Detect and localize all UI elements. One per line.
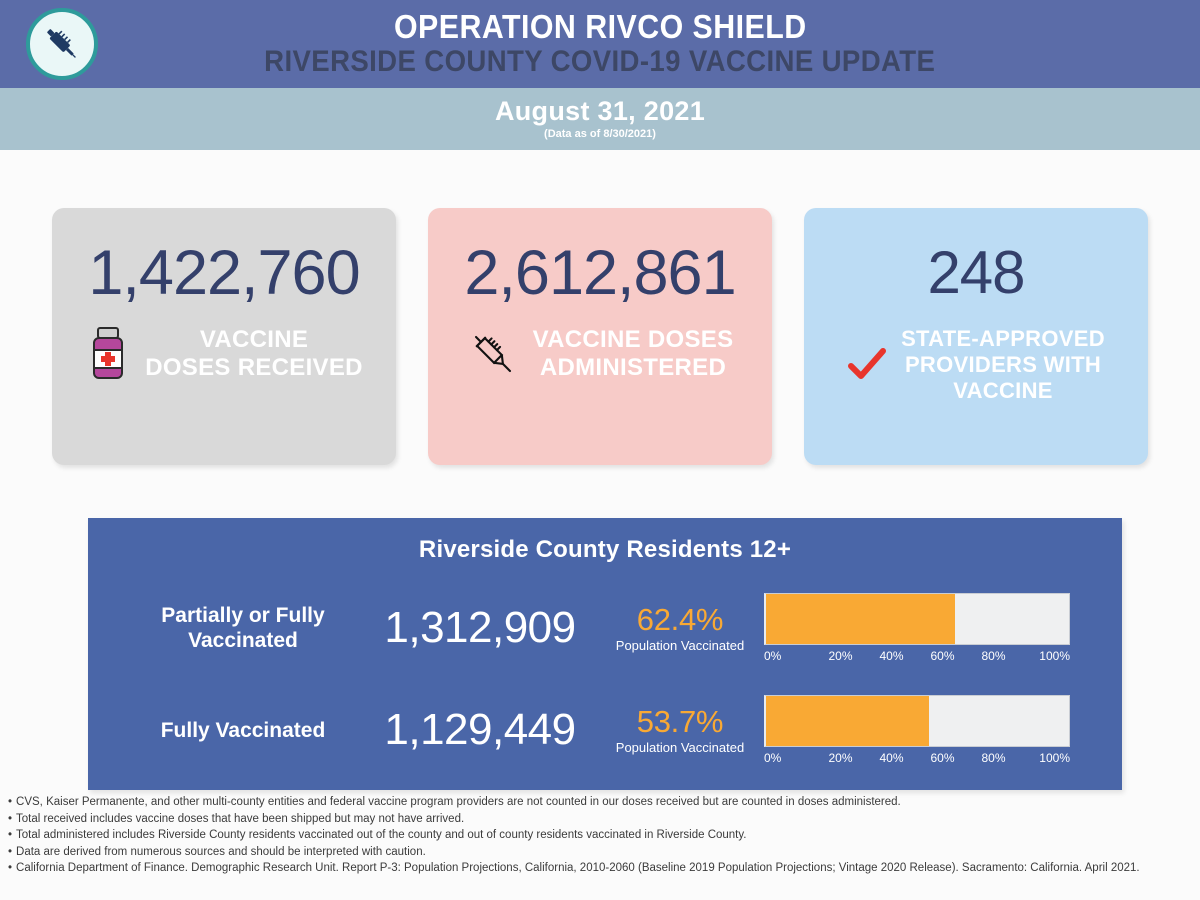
row-percent-fully: 53.7%	[604, 705, 756, 739]
row-label-partially-line2: Vaccinated	[130, 628, 356, 653]
panel-title: Riverside County Residents 12+	[88, 518, 1122, 564]
red-checkmark-icon	[847, 345, 887, 385]
axis-tick-4: 80%	[968, 751, 1019, 765]
footnote-text: Total received includes vaccine doses th…	[16, 811, 1192, 828]
axis-tick-1: 20%	[815, 751, 866, 765]
page-header: OPERATION RIVCO SHIELD RIVERSIDE COUNTY …	[0, 0, 1200, 88]
data-as-of-note: (Data as of 8/30/2021)	[544, 127, 656, 142]
syringe-icon	[467, 328, 519, 380]
page-title-secondary: RIVERSIDE COUNTY COVID-19 VACCINE UPDATE	[264, 45, 935, 79]
axis-tick-1: 20%	[815, 649, 866, 663]
footnote-bullet: •	[8, 827, 12, 844]
footnote-item: • Total administered includes Riverside …	[8, 827, 1192, 844]
axis-tick-3: 60%	[917, 751, 968, 765]
bar-track-partially	[764, 593, 1070, 645]
bar-fill-partially	[766, 594, 955, 644]
residents-panel: Riverside County Residents 12+ Partially…	[88, 518, 1122, 790]
footnote-item: • California Department of Finance. Demo…	[8, 860, 1192, 877]
date-band: August 31, 2021 (Data as of 8/30/2021)	[0, 88, 1200, 150]
axis-tick-3: 60%	[917, 649, 968, 663]
row-percent-block-partially: 62.4% Population Vaccinated	[604, 603, 756, 654]
doses-administered-label: VACCINE DOSES ADMINISTERED	[533, 326, 734, 382]
bar-chart-partially-or-fully: 0% 20% 40% 60% 80% 100%	[756, 593, 1086, 663]
row-label-fully: Fully Vaccinated	[130, 718, 356, 743]
footnote-bullet: •	[8, 811, 12, 828]
chart-row-partially-or-fully-vaccinated: Partially or Fully Vaccinated 1,312,909 …	[88, 584, 1122, 672]
vaccine-bottle-icon	[85, 326, 131, 382]
approved-providers-label-line2: PROVIDERS WITH	[901, 352, 1105, 378]
chart-row-fully-vaccinated: Fully Vaccinated 1,129,449 53.7% Populat…	[88, 686, 1122, 774]
row-percent-block-fully: 53.7% Population Vaccinated	[604, 705, 756, 756]
row-count-fully: 1,129,449	[356, 705, 604, 755]
stat-card-doses-received: 1,422,760 VACCINE DOSES RECEIVED	[52, 208, 396, 465]
approved-providers-label-line3: VACCINE	[901, 378, 1105, 404]
doses-received-value: 1,422,760	[88, 236, 359, 310]
footnote-item: • CVS, Kaiser Permanente, and other mult…	[8, 794, 1192, 811]
bar-track-fully	[764, 695, 1070, 747]
bar-axis-fully: 0% 20% 40% 60% 80% 100%	[764, 751, 1070, 765]
row-percent-caption-fully: Population Vaccinated	[604, 740, 756, 756]
axis-tick-0: 0%	[764, 649, 815, 663]
footnotes: • CVS, Kaiser Permanente, and other mult…	[8, 794, 1192, 877]
doses-administered-label-line2: ADMINISTERED	[533, 354, 734, 382]
row-count-partially-or-fully: 1,312,909	[356, 603, 604, 653]
axis-tick-2: 40%	[866, 649, 917, 663]
approved-providers-label-line1: STATE-APPROVED	[901, 326, 1105, 352]
approved-providers-value: 248	[927, 236, 1024, 310]
page-title-primary: OPERATION RIVCO SHIELD	[394, 9, 807, 45]
report-date: August 31, 2021	[495, 96, 705, 126]
doses-administered-value: 2,612,861	[464, 236, 735, 310]
approved-providers-label: STATE-APPROVED PROVIDERS WITH VACCINE	[901, 326, 1105, 404]
footnote-text: CVS, Kaiser Permanente, and other multi-…	[16, 794, 1192, 811]
row-percent-caption-partially: Population Vaccinated	[604, 638, 756, 654]
row-label-fully-line1: Fully Vaccinated	[130, 718, 356, 743]
footnote-bullet: •	[8, 860, 12, 877]
infographic-page: OPERATION RIVCO SHIELD RIVERSIDE COUNTY …	[0, 0, 1200, 900]
bar-axis-partially: 0% 20% 40% 60% 80% 100%	[764, 649, 1070, 663]
stat-card-approved-providers: 248 STATE-APPROVED PROVIDERS WITH VACCIN…	[804, 208, 1148, 465]
doses-administered-label-line1: VACCINE DOSES	[533, 326, 734, 354]
row-percent-partially: 62.4%	[604, 603, 756, 637]
axis-tick-5: 100%	[1019, 751, 1070, 765]
stat-card-group: 1,422,760 VACCINE DOSES RECEIVED	[0, 150, 1200, 465]
axis-tick-0: 0%	[764, 751, 815, 765]
syringe-circle-logo	[26, 8, 98, 80]
row-label-partially-or-fully: Partially or Fully Vaccinated	[130, 603, 356, 653]
axis-tick-4: 80%	[968, 649, 1019, 663]
axis-tick-5: 100%	[1019, 649, 1070, 663]
footnote-item: • Data are derived from numerous sources…	[8, 844, 1192, 861]
axis-tick-2: 40%	[866, 751, 917, 765]
stat-card-doses-administered: 2,612,861	[428, 208, 772, 465]
footnote-bullet: •	[8, 794, 12, 811]
footnote-text: Total administered includes Riverside Co…	[16, 827, 1192, 844]
bar-chart-fully: 0% 20% 40% 60% 80% 100%	[756, 695, 1086, 765]
footnote-text: Data are derived from numerous sources a…	[16, 844, 1192, 861]
doses-received-label: VACCINE DOSES RECEIVED	[145, 326, 363, 382]
footnote-item: • Total received includes vaccine doses …	[8, 811, 1192, 828]
doses-received-label-line1: VACCINE	[145, 326, 363, 354]
row-label-partially-line1: Partially or Fully	[130, 603, 356, 628]
bar-fill-fully	[766, 696, 929, 746]
footnote-text: California Department of Finance. Demogr…	[16, 860, 1192, 877]
doses-received-label-line2: DOSES RECEIVED	[145, 354, 363, 382]
footnote-bullet: •	[8, 844, 12, 861]
